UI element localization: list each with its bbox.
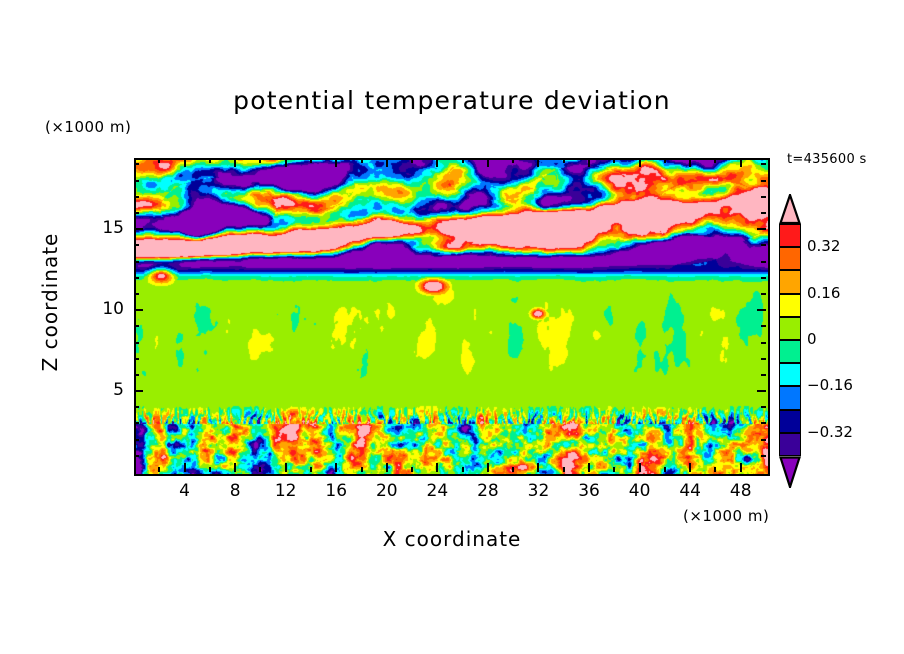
y-tick-label: 5 xyxy=(64,380,124,400)
x-tick-major-top xyxy=(285,158,287,167)
colorbar-band xyxy=(779,433,801,456)
colorbar-tick-label: 0 xyxy=(807,330,817,348)
y-tick-minor-right xyxy=(761,455,766,457)
x-axis-units: (×1000 m) xyxy=(683,507,769,525)
y-tick-minor-right xyxy=(761,196,766,198)
y-tick-minor xyxy=(134,374,139,376)
x-tick-minor-top xyxy=(512,158,514,163)
y-tick-minor-right xyxy=(761,406,766,408)
x-tick-major-top xyxy=(537,158,539,167)
y-tick-minor xyxy=(134,196,139,198)
page-title: potential temperature deviation xyxy=(0,86,904,115)
colorbar xyxy=(779,224,801,456)
y-tick-minor-right xyxy=(761,163,766,165)
y-tick-major-right xyxy=(757,228,766,230)
x-tick-major-top xyxy=(639,158,641,167)
x-tick-minor-top xyxy=(664,158,666,163)
y-tick-major xyxy=(134,390,143,392)
colorbar-tick-label: 0.16 xyxy=(807,284,840,302)
x-tick-major xyxy=(436,463,438,472)
x-tick-minor-top xyxy=(361,158,363,163)
x-tick-major xyxy=(537,463,539,472)
y-tick-minor xyxy=(134,439,139,441)
y-axis-label: Z coordinate xyxy=(38,192,62,412)
y-tick-minor xyxy=(134,455,139,457)
colorbar-cap-top xyxy=(779,194,801,224)
colorbar-extend-min-icon xyxy=(779,456,801,488)
x-tick-minor xyxy=(310,467,312,472)
y-tick-minor xyxy=(134,406,139,408)
x-tick-minor-top xyxy=(158,158,160,163)
x-tick-minor xyxy=(462,467,464,472)
colorbar-band xyxy=(779,340,801,363)
y-tick-major-right xyxy=(757,390,766,392)
y-tick-major xyxy=(134,309,143,311)
x-tick-major-top xyxy=(234,158,236,167)
x-tick-minor-top xyxy=(613,158,615,163)
x-tick-major xyxy=(487,463,489,472)
y-tick-minor xyxy=(134,342,139,344)
colorbar-tick-label: −0.16 xyxy=(807,376,853,394)
x-tick-major-top xyxy=(436,158,438,167)
contour-plot xyxy=(134,158,770,476)
x-tick-major-top xyxy=(335,158,337,167)
x-tick-major-top xyxy=(689,158,691,167)
y-tick-minor xyxy=(134,212,139,214)
x-tick-major xyxy=(639,463,641,472)
x-tick-minor xyxy=(563,467,565,472)
y-tick-minor xyxy=(134,358,139,360)
y-tick-minor xyxy=(134,261,139,263)
x-tick-minor-top xyxy=(310,158,312,163)
y-tick-label: 10 xyxy=(64,299,124,319)
y-tick-minor xyxy=(134,277,139,279)
x-axis-label: X coordinate xyxy=(0,527,904,551)
x-tick-minor-top xyxy=(462,158,464,163)
y-tick-label: 15 xyxy=(64,218,124,238)
y-tick-minor xyxy=(134,180,139,182)
x-tick-minor xyxy=(361,467,363,472)
y-tick-minor-right xyxy=(761,277,766,279)
x-tick-major-top xyxy=(386,158,388,167)
x-tick-minor xyxy=(714,467,716,472)
x-tick-major-top xyxy=(184,158,186,167)
y-tick-minor-right xyxy=(761,374,766,376)
x-tick-major xyxy=(285,463,287,472)
colorbar-band xyxy=(779,270,801,293)
colorbar-tick-label: 0.32 xyxy=(807,237,840,255)
colorbar-band xyxy=(779,294,801,317)
x-tick-label: 48 xyxy=(711,481,771,501)
y-tick-minor xyxy=(134,422,139,424)
y-tick-minor-right xyxy=(761,180,766,182)
y-tick-minor-right xyxy=(761,342,766,344)
x-tick-minor xyxy=(512,467,514,472)
y-tick-minor-right xyxy=(761,358,766,360)
x-tick-minor-top xyxy=(563,158,565,163)
contour-field-canvas xyxy=(136,160,768,474)
y-tick-minor-right xyxy=(761,212,766,214)
x-tick-minor xyxy=(411,467,413,472)
colorbar-band xyxy=(779,386,801,409)
colorbar-band xyxy=(779,317,801,340)
colorbar-cap-bottom xyxy=(779,456,801,488)
colorbar-band xyxy=(779,224,801,247)
time-annotation: t=435600 s xyxy=(787,152,867,167)
x-tick-major xyxy=(740,463,742,472)
y-axis-units: (×1000 m) xyxy=(45,118,131,136)
x-tick-minor xyxy=(209,467,211,472)
y-tick-major-right xyxy=(757,309,766,311)
colorbar-extend-max-icon xyxy=(779,194,801,224)
y-tick-minor-right xyxy=(761,439,766,441)
y-tick-minor xyxy=(134,163,139,165)
y-tick-minor-right xyxy=(761,422,766,424)
x-tick-minor-top xyxy=(209,158,211,163)
colorbar-tick-label: −0.32 xyxy=(807,423,853,441)
x-tick-major xyxy=(689,463,691,472)
y-tick-minor-right xyxy=(761,261,766,263)
x-tick-major-top xyxy=(487,158,489,167)
colorbar-band xyxy=(779,410,801,433)
x-tick-major xyxy=(184,463,186,472)
y-tick-minor xyxy=(134,325,139,327)
x-tick-major xyxy=(588,463,590,472)
x-tick-minor xyxy=(613,467,615,472)
x-tick-major-top xyxy=(588,158,590,167)
x-tick-major-top xyxy=(740,158,742,167)
x-tick-minor-top xyxy=(714,158,716,163)
y-tick-minor xyxy=(134,293,139,295)
x-tick-minor xyxy=(158,467,160,472)
x-tick-minor-top xyxy=(411,158,413,163)
y-tick-minor-right xyxy=(761,325,766,327)
x-tick-minor-top xyxy=(259,158,261,163)
x-tick-minor xyxy=(664,467,666,472)
colorbar-band xyxy=(779,363,801,386)
x-tick-minor xyxy=(259,467,261,472)
y-tick-major xyxy=(134,228,143,230)
x-tick-major xyxy=(386,463,388,472)
x-tick-major xyxy=(335,463,337,472)
y-tick-minor-right xyxy=(761,293,766,295)
x-tick-major xyxy=(234,463,236,472)
y-tick-minor xyxy=(134,244,139,246)
y-tick-minor-right xyxy=(761,244,766,246)
colorbar-band xyxy=(779,247,801,270)
